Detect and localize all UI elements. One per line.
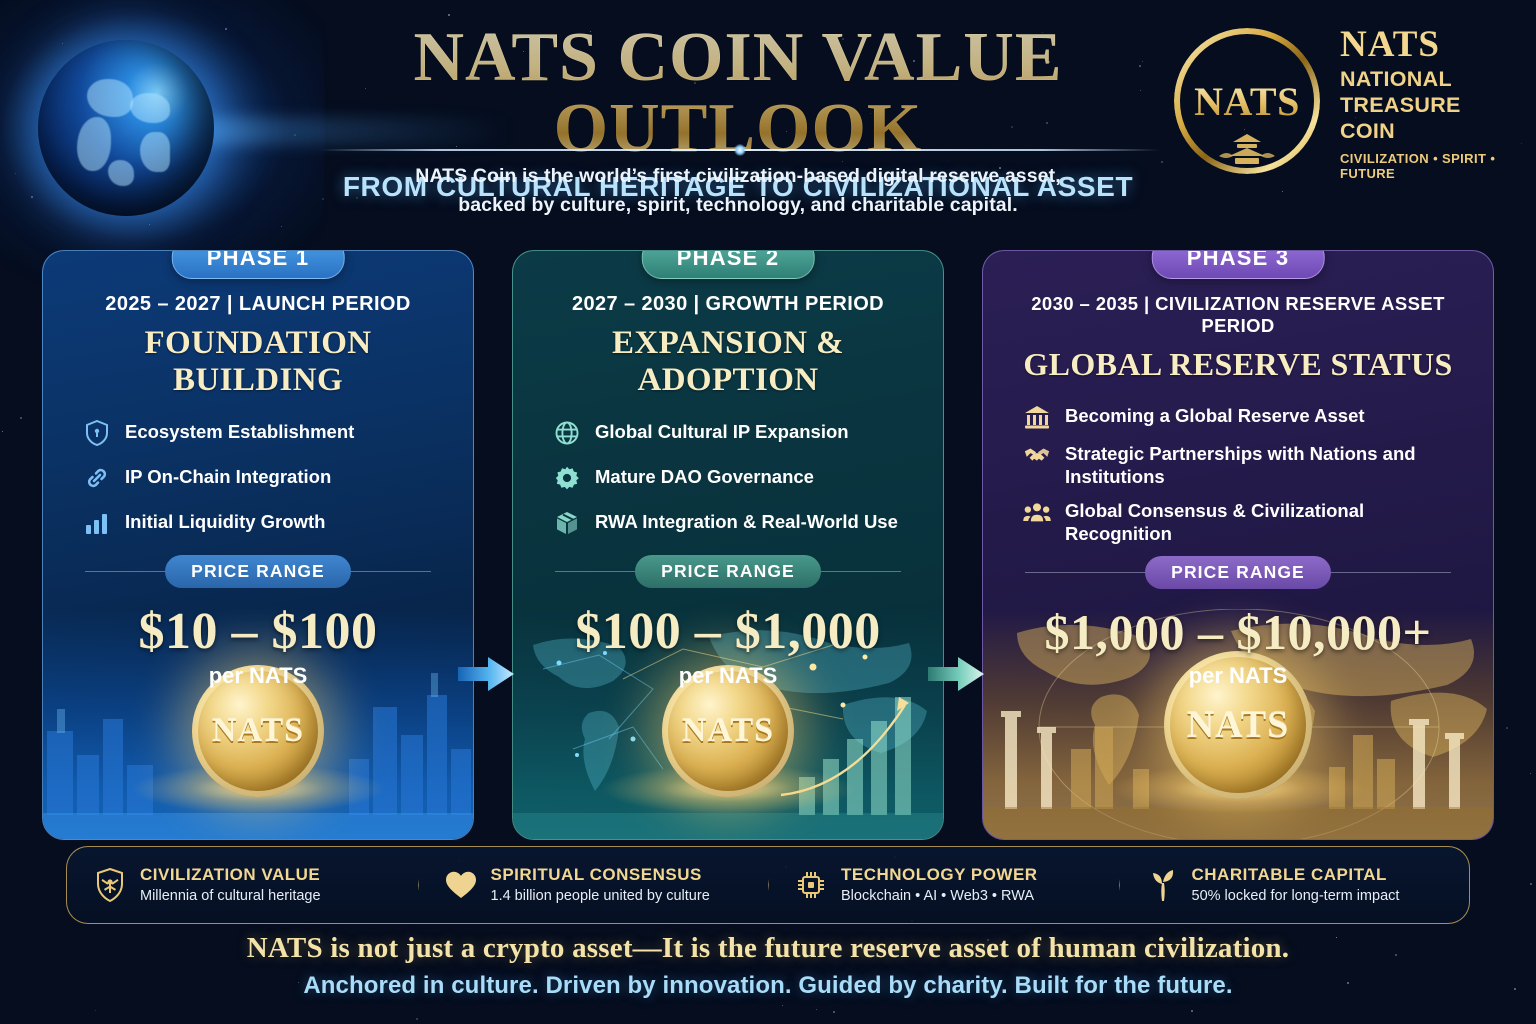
- feature-civilization-value: CIVILIZATION VALUE Millennia of cultural…: [67, 865, 418, 904]
- phase1-bullets: Ecosystem Establishment IP On-Chain Inte…: [69, 419, 447, 537]
- logo-fullname-3: COIN: [1340, 119, 1512, 143]
- chip-icon: [794, 866, 828, 904]
- list-item: Ecosystem Establishment: [83, 419, 447, 447]
- handshake-icon: [1023, 441, 1051, 469]
- list-item-label: IP On-Chain Integration: [125, 464, 331, 489]
- logo-tagline: CIVILIZATION • SPIRIT • FUTURE: [1340, 151, 1512, 181]
- feature-text-wrap: SPIRITUAL CONSENSUS 1.4 billion people u…: [491, 865, 710, 904]
- phase2-body: 2027 – 2030 | GROWTH PERIOD EXPANSION & …: [513, 251, 943, 689]
- shield-icon: [83, 419, 111, 447]
- phase3-bullets: Becoming a Global Reserve Asset Strategi…: [1009, 403, 1467, 545]
- phase3-price-header: PRICE RANGE: [1009, 555, 1467, 589]
- phase-card-2[interactable]: NATS PHASE 2 2027 – 2030 | GROWTH PERIOD…: [512, 250, 944, 840]
- footer-line-2: Anchored in culture. Driven by innovatio…: [0, 972, 1536, 1000]
- logo-fullname-1: NATIONAL: [1340, 67, 1512, 91]
- feature-title: CHARITABLE CAPITAL: [1192, 865, 1400, 885]
- list-item: Becoming a Global Reserve Asset: [1023, 403, 1467, 431]
- bank-icon: [1023, 403, 1051, 431]
- logo-name: NATS: [1340, 26, 1512, 65]
- logo-coin-text: NATS: [1194, 78, 1300, 125]
- feature-desc: Blockchain • AI • Web3 • RWA: [841, 888, 1038, 905]
- phase2-bullets: Global Cultural IP Expansion Mature DAO …: [539, 419, 917, 537]
- phase2-price-header: PRICE RANGE: [539, 554, 917, 588]
- feature-spiritual-consensus: SPIRITUAL CONSENSUS 1.4 billion people u…: [418, 865, 769, 904]
- intro-line-2: backed by culture, spirit, technology, a…: [240, 191, 1236, 220]
- header-divider: [320, 149, 1160, 151]
- feature-title: SPIRITUAL CONSENSUS: [491, 865, 710, 885]
- feature-title: TECHNOLOGY POWER: [841, 865, 1038, 885]
- list-item-label: Global Cultural IP Expansion: [595, 419, 849, 444]
- phase1-period: 2025 – 2027 | LAUNCH PERIOD: [69, 293, 447, 316]
- phase1-price-header: PRICE RANGE: [69, 554, 447, 588]
- list-item: Global Consensus & Civilizational Recogn…: [1023, 498, 1467, 545]
- logo-wordmark: NATS NATIONAL TREASURE COIN CIVILIZATION…: [1340, 22, 1512, 181]
- feature-desc: 1.4 billion people united by culture: [491, 888, 710, 905]
- phase3-coin-text: NATS: [1187, 703, 1290, 747]
- feature-text-wrap: CIVILIZATION VALUE Millennia of cultural…: [140, 865, 321, 904]
- globe-icon: [553, 419, 581, 447]
- phase1-body: 2025 – 2027 | LAUNCH PERIOD FOUNDATION B…: [43, 251, 473, 689]
- phase3-price: $1,000 – $10,000+: [1009, 603, 1467, 661]
- phase3-price-label: PRICE RANGE: [1145, 556, 1331, 589]
- feature-bar: CIVILIZATION VALUE Millennia of cultural…: [66, 846, 1470, 924]
- list-item: Mature DAO Governance: [553, 464, 917, 492]
- phase1-coin-text: NATS: [212, 712, 304, 750]
- sprout-icon: [1145, 866, 1179, 904]
- logo-coin-emblem: NATS: [1168, 22, 1326, 180]
- phase2-coin-text: NATS: [682, 712, 774, 750]
- list-item-label: RWA Integration & Real-World Use: [595, 509, 898, 534]
- list-item-label: Strategic Partnerships with Nations and …: [1065, 441, 1467, 488]
- list-item: Global Cultural IP Expansion: [553, 419, 917, 447]
- phase2-price: $100 – $1,000: [539, 602, 917, 661]
- footer: NATS is not just a crypto asset—It is th…: [0, 932, 1536, 1000]
- list-item-label: Mature DAO Governance: [595, 464, 814, 489]
- pagoda-icon: [1211, 132, 1283, 166]
- feature-desc: 50% locked for long-term impact: [1192, 888, 1400, 905]
- phase2-headline: EXPANSION & ADOPTION: [539, 325, 917, 399]
- phase-cards-row: NATS PHASE 1 2025 – 2027 | LAUNCH PERIOD…: [0, 236, 1536, 840]
- phase3-period: 2030 – 2035 | CIVILIZATION RESERVE ASSET…: [1009, 293, 1467, 337]
- logo-fullname-2: TREASURE: [1340, 93, 1512, 117]
- list-item: Strategic Partnerships with Nations and …: [1023, 441, 1467, 488]
- header: NATS COIN VALUE OUTLOOK FROM CULTURAL HE…: [0, 0, 1536, 203]
- phase2-price-unit: per NATS: [539, 663, 917, 689]
- arrow-phase1-to-phase2-icon: [458, 654, 514, 694]
- list-item: RWA Integration & Real-World Use: [553, 509, 917, 537]
- phase2-period: 2027 – 2030 | GROWTH PERIOD: [539, 293, 917, 316]
- phase2-price-label: PRICE RANGE: [635, 555, 821, 588]
- phase-card-1[interactable]: NATS PHASE 1 2025 – 2027 | LAUNCH PERIOD…: [42, 250, 474, 840]
- phase-card-3[interactable]: NATS PHASE 3 2030 – 2035 | CIVILIZATION …: [982, 250, 1494, 840]
- footer-line-1: NATS is not just a crypto asset—It is th…: [0, 932, 1536, 965]
- heart-icon: [444, 866, 478, 904]
- intro-line-1: NATS Coin is the world’s first civilizat…: [240, 162, 1236, 191]
- bar-chart-icon: [83, 509, 111, 537]
- nats-logo: NATS NATS NATIONAL TREASURE COIN CIVILIZ…: [1168, 22, 1512, 200]
- phase1-price: $10 – $100: [69, 602, 447, 661]
- phase1-price-label: PRICE RANGE: [165, 555, 351, 588]
- feature-desc: Millennia of cultural heritage: [140, 888, 321, 905]
- shield-emblem-icon: [93, 866, 127, 904]
- phase3-headline: GLOBAL RESERVE STATUS: [1009, 346, 1467, 383]
- cube-box-icon: [553, 509, 581, 537]
- list-item-label: Global Consensus & Civilizational Recogn…: [1065, 498, 1467, 545]
- phase1-price-unit: per NATS: [69, 663, 447, 689]
- feature-charitable-capital: CHARITABLE CAPITAL 50% locked for long-t…: [1119, 865, 1470, 904]
- phase3-price-unit: per NATS: [1009, 663, 1467, 689]
- gear-icon: [553, 464, 581, 492]
- arrow-phase2-to-phase3-icon: [928, 654, 984, 694]
- people-group-icon: [1023, 498, 1051, 526]
- feature-technology-power: TECHNOLOGY POWER Blockchain • AI • Web3 …: [768, 865, 1119, 904]
- feature-title: CIVILIZATION VALUE: [140, 865, 321, 885]
- list-item-label: Becoming a Global Reserve Asset: [1065, 403, 1365, 428]
- list-item: Initial Liquidity Growth: [83, 509, 447, 537]
- list-item-label: Ecosystem Establishment: [125, 419, 354, 444]
- list-item-label: Initial Liquidity Growth: [125, 509, 325, 534]
- list-item: IP On-Chain Integration: [83, 464, 447, 492]
- link-chain-icon: [83, 464, 111, 492]
- feature-text-wrap: TECHNOLOGY POWER Blockchain • AI • Web3 …: [841, 865, 1038, 904]
- phase3-body: 2030 – 2035 | CIVILIZATION RESERVE ASSET…: [983, 251, 1493, 689]
- feature-text-wrap: CHARITABLE CAPITAL 50% locked for long-t…: [1192, 865, 1400, 904]
- phase1-headline: FOUNDATION BUILDING: [69, 325, 447, 399]
